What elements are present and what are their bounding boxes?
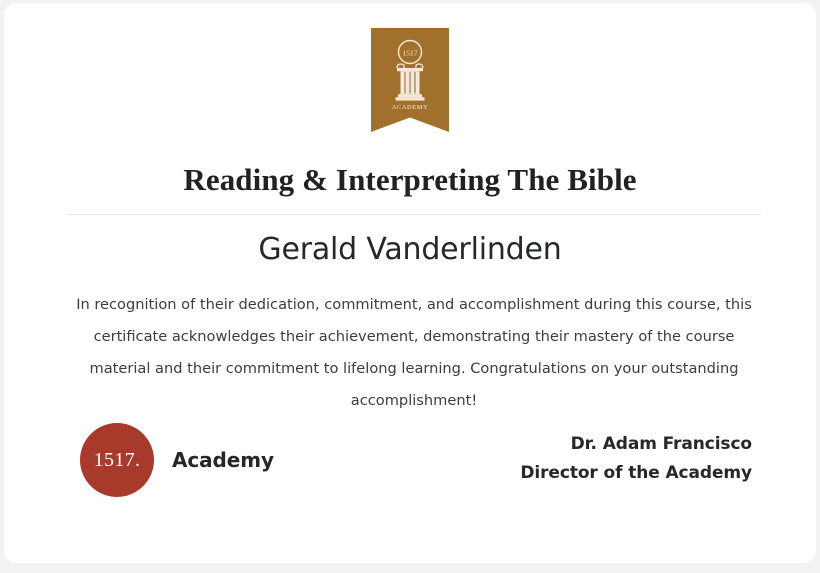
certificate-body-text: In recognition of their dedication, comm… — [70, 289, 758, 417]
recipient-name: Gerald Vanderlinden — [4, 229, 816, 271]
emblem-academy-text: ACADEMY — [392, 104, 429, 111]
signer-name: Dr. Adam Francisco — [520, 430, 752, 459]
signer-role: Director of the Academy — [520, 459, 752, 488]
academy-column-logo-icon: 1517 ACADEMY — [384, 37, 436, 113]
emblem-year-text: 1517 — [403, 48, 418, 57]
certificate-title: Reading & Interpreting The Bible — [4, 159, 816, 201]
signature-block: Dr. Adam Francisco Director of the Acade… — [520, 430, 752, 488]
brand-block: 1517. Academy — [80, 423, 274, 497]
brand-name-label: Academy — [172, 448, 274, 472]
certificate-card: 1517 ACADEMY Reading & Interpreting The … — [4, 3, 816, 563]
certificate-footer: 1517. Academy Dr. Adam Francisco Directo… — [4, 418, 816, 508]
brand-seal-icon: 1517. — [80, 423, 154, 497]
brand-seal-label: 1517. — [94, 449, 141, 472]
certificate-banner: 1517 ACADEMY — [4, 28, 816, 132]
ribbon-shape: 1517 ACADEMY — [371, 28, 449, 132]
title-divider — [67, 214, 761, 215]
